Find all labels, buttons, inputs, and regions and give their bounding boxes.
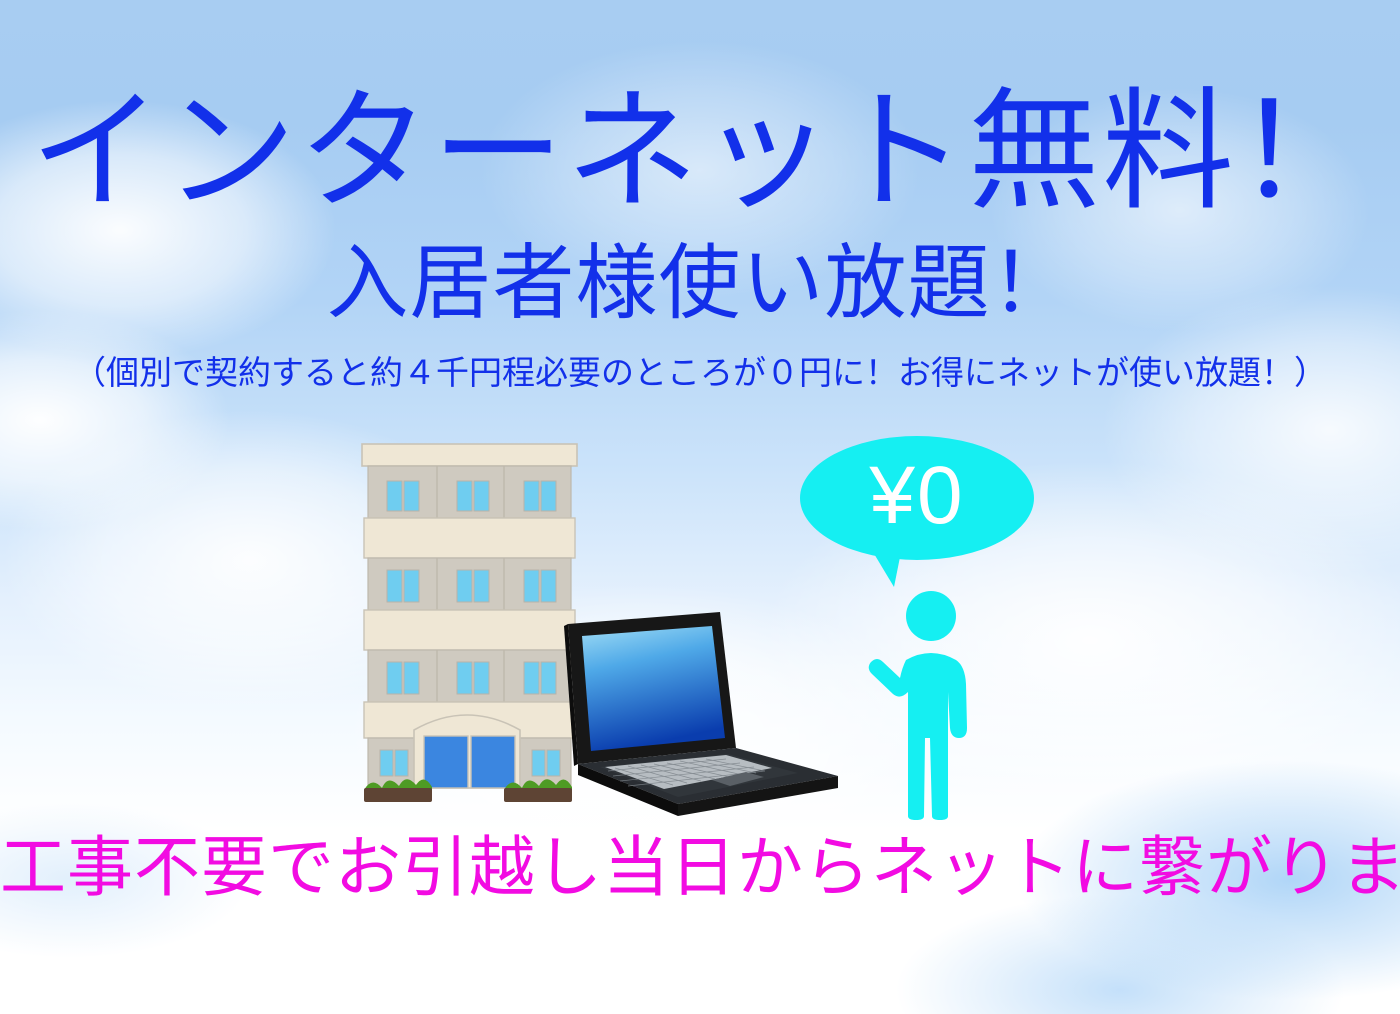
building-windows-floor-3 bbox=[387, 570, 556, 602]
building-balcony-band-3 bbox=[364, 518, 575, 558]
building-windows-floor-2 bbox=[387, 662, 556, 694]
laptop-illustration bbox=[560, 608, 845, 820]
poster-canvas: インターネット無料！ 入居者様使い放題！ （個別で契約すると約４千円程必要のとこ… bbox=[0, 0, 1400, 1014]
subheadline-text: 入居者様使い放題！ bbox=[0, 243, 1400, 325]
building-windows-floor-4 bbox=[387, 481, 556, 511]
person-pictogram bbox=[862, 588, 987, 820]
speech-bubble-tail bbox=[870, 547, 902, 587]
footer-text: 工事不要でお引越し当日からネットに繋がります bbox=[0, 834, 1400, 900]
building-entrance-door-right bbox=[471, 736, 515, 788]
building-balcony-band-2 bbox=[364, 610, 575, 650]
building-entrance-door-left bbox=[424, 736, 468, 788]
building-roof-parapet bbox=[362, 444, 577, 466]
laptop-screen bbox=[582, 626, 725, 751]
speech-bubble-price-text: ¥0 bbox=[798, 455, 1036, 537]
note-text: （個別で契約すると約４千円程必要のところが０円に！お得にネットが使い放題！） bbox=[0, 356, 1400, 389]
person-body-and-raised-arm bbox=[869, 653, 967, 820]
headline-text: インターネット無料！ bbox=[0, 86, 1400, 218]
person-head bbox=[906, 591, 956, 641]
